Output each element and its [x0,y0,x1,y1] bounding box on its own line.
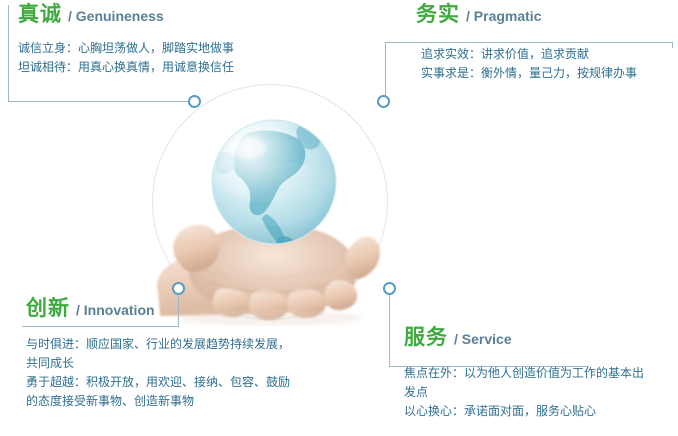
section-genuineness-heading: 真诚/ Genuineness [18,4,348,25]
section-service-line-3: 以心换心：承诺面对面，服务心贴心 [404,402,676,421]
section-service-body: 焦点在外：以为他人创造价值为工作的基本出 发点 以心换心：承诺面对面，服务心贴心 [404,364,676,421]
section-pragmatic-title-cn: 务实 [416,3,460,26]
section-service: 服务/ Service 焦点在外：以为他人创造价值为工作的基本出 发点 以心换心… [404,327,676,421]
section-genuineness-body: 诚信立身：心胸坦荡做人，脚踏实地做事 坦诚相待：用真心换真情，用诚意换信任 [18,39,348,77]
connector-node-innovation [172,282,185,295]
section-service-heading: 服务/ Service [404,327,676,348]
connector-node-pragmatic [377,95,390,108]
connector-node-service [383,282,396,295]
section-pragmatic: 务实/ Pragmatic 追求实效：讲求价值，追求贡献 实事求是：衡外情，量己… [416,4,676,83]
section-innovation-body: 与时俱进：顺应国家、行业的发展趋势持续发展， 共同成长 勇于超越：积极开放，用欢… [26,335,346,411]
hand-holding-globe-image [150,86,398,326]
section-pragmatic-line-1: 追求实效：讲求价值，追求贡献 [421,45,676,64]
section-pragmatic-title-en: / Pragmatic [466,8,541,24]
connector-line-bottom-right-vertical [389,295,390,366]
connector-line-top-right-vertical [385,42,386,101]
section-innovation: 创新/ Innovation 与时俱进：顺应国家、行业的发展趋势持续发展， 共同… [26,298,346,411]
section-service-line-1: 焦点在外：以为他人创造价值为工作的基本出 [404,364,676,383]
section-innovation-heading: 创新/ Innovation [26,298,346,319]
section-genuineness-title-cn: 真诚 [18,3,62,26]
section-innovation-line-2: 共同成长 [26,354,346,373]
section-pragmatic-heading: 务实/ Pragmatic [416,4,676,25]
connector-line-top-left-horizontal [8,101,188,102]
section-genuineness-line-2: 坦诚相待：用真心换真情，用诚意换信任 [18,58,348,77]
section-genuineness: 真诚/ Genuineness 诚信立身：心胸坦荡做人，脚踏实地做事 坦诚相待：… [18,4,348,77]
values-diagram: 真诚/ Genuineness 诚信立身：心胸坦荡做人，脚踏实地做事 坦诚相待：… [0,0,678,436]
section-innovation-line-4: 的态度接受新事物、创造新事物 [26,392,346,411]
section-service-line-2: 发点 [404,383,676,402]
section-service-title-en: / Service [454,331,512,347]
section-genuineness-line-1: 诚信立身：心胸坦荡做人，脚踏实地做事 [18,39,348,58]
section-innovation-title-cn: 创新 [26,297,70,320]
connector-line-top-left-vertical [8,5,9,101]
connector-node-genuineness [188,95,201,108]
section-pragmatic-line-2: 实事求是：衡外情，量己力，按规律办事 [421,64,676,83]
section-genuineness-title-en: / Genuineness [68,8,164,24]
section-innovation-line-3: 勇于超越：积极开放，用欢迎、接纳、包容、鼓励 [26,373,346,392]
section-innovation-title-en: / Innovation [76,302,155,318]
section-service-title-cn: 服务 [404,326,448,349]
section-pragmatic-body: 追求实效：讲求价值，追求贡献 实事求是：衡外情，量己力，按规律办事 [421,45,676,83]
section-innovation-line-1: 与时俱进：顺应国家、行业的发展趋势持续发展， [26,335,346,354]
